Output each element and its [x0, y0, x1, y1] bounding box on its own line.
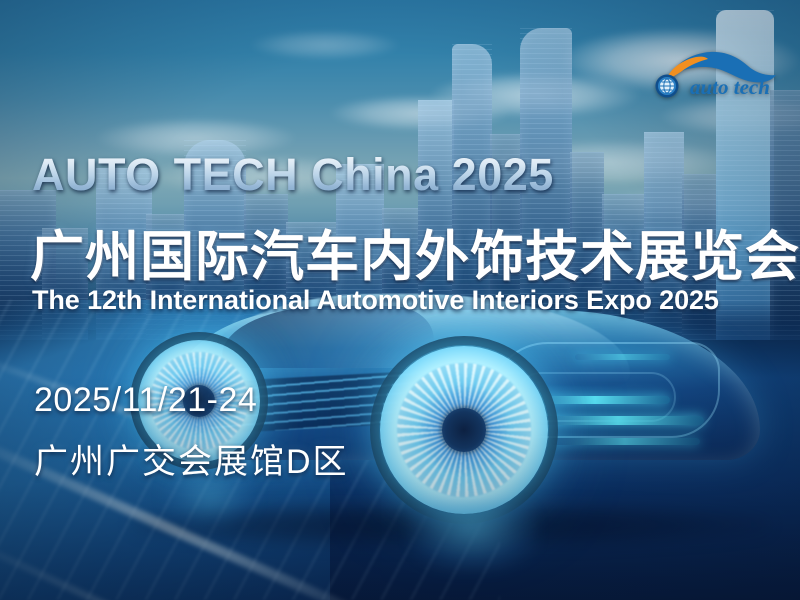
chinese-title: 广州国际汽车内外饰技术展览会	[30, 230, 800, 284]
concept-car	[120, 288, 800, 558]
exhibition-poster: AUTO TECH China 2025 广州国际汽车内外饰技术展览会 The …	[0, 0, 800, 600]
event-date: 2025/11/21-24	[34, 381, 257, 420]
neon-strip	[575, 354, 670, 360]
page-title: AUTO TECH China 2025	[32, 152, 554, 197]
wheel-glow-reflection	[408, 502, 538, 572]
event-venue: 广州广交会展馆D区	[34, 434, 349, 483]
neon-strip	[550, 438, 700, 445]
logo-wordmark: auto tech	[690, 75, 770, 99]
auto-tech-logo[interactable]: auto tech	[648, 44, 788, 106]
glowing-wheel	[380, 346, 548, 514]
english-subtitle: The 12th International Automotive Interi…	[32, 286, 719, 316]
